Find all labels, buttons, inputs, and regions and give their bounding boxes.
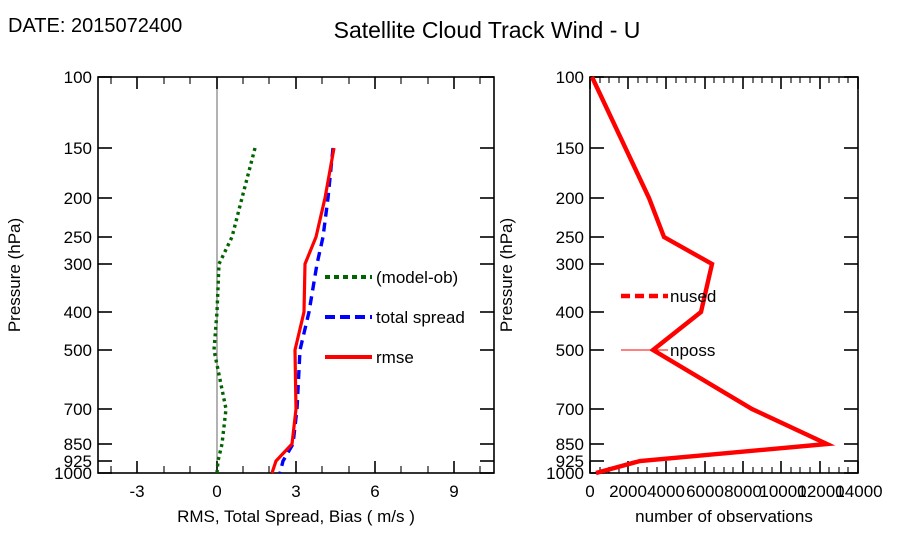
profile-figure: DATE: 2015072400 Satellite Cloud Track W… xyxy=(0,0,900,560)
x-tick-label: -3 xyxy=(129,482,144,501)
y-tick-label: 100 xyxy=(556,68,584,87)
right-legend: nused nposs xyxy=(621,287,716,360)
x-tick-label: 0 xyxy=(585,482,594,501)
series-rmse xyxy=(272,148,334,473)
series-nused xyxy=(592,77,827,473)
right-x-axis-label: number of observations xyxy=(635,507,813,526)
legend-label-nposs: nposs xyxy=(670,341,715,360)
y-tick-label: 700 xyxy=(556,400,584,419)
x-tick-label: 4000 xyxy=(647,482,685,501)
series-model-ob xyxy=(214,148,255,473)
y-tick-label: 200 xyxy=(556,189,584,208)
left-x-tick-labels: -3 0 3 6 9 xyxy=(129,482,458,501)
right-y-axis-label: Pressure (hPa) xyxy=(497,218,516,332)
y-tick-label: 400 xyxy=(64,303,92,322)
legend-label-rmse: rmse xyxy=(376,348,414,367)
x-tick-label: 6000 xyxy=(686,482,724,501)
figure-canvas: DATE: 2015072400 Satellite Cloud Track W… xyxy=(0,0,900,560)
y-tick-label: 150 xyxy=(556,139,584,158)
x-tick-label: 14000 xyxy=(835,482,882,501)
x-tick-label: 8000 xyxy=(724,482,762,501)
right-y-ticks xyxy=(590,77,858,473)
date-label: DATE: 2015072400 xyxy=(8,15,182,37)
y-tick-label: 250 xyxy=(556,228,584,247)
legend-label-model-ob: (model-ob) xyxy=(376,268,458,287)
left-legend: (model-ob) total spread rmse xyxy=(325,268,465,367)
right-x-ticks xyxy=(590,77,858,473)
y-tick-label: 500 xyxy=(64,341,92,360)
right-panel: 100 150 200 250 300 400 500 700 850 925 … xyxy=(497,68,883,526)
left-y-tick-labels: 100 150 200 250 300 400 500 700 850 925 … xyxy=(54,68,92,483)
y-tick-label: 250 xyxy=(64,228,92,247)
y-tick-label: 300 xyxy=(556,255,584,274)
right-plot-frame xyxy=(590,77,858,473)
y-tick-label: 300 xyxy=(64,255,92,274)
x-tick-label: 0 xyxy=(212,482,221,501)
y-tick-label: 400 xyxy=(556,303,584,322)
left-panel: 100 150 200 250 300 400 500 700 850 925 … xyxy=(5,68,494,526)
y-tick-label: 500 xyxy=(556,341,584,360)
x-tick-label: 6 xyxy=(370,482,379,501)
y-tick-label: 100 xyxy=(64,68,92,87)
y-tick-label: 1000 xyxy=(546,464,584,483)
y-tick-label: 1000 xyxy=(54,464,92,483)
page-title: Satellite Cloud Track Wind - U xyxy=(334,17,641,43)
legend-label-nused: nused xyxy=(670,287,716,306)
x-tick-label: 3 xyxy=(291,482,300,501)
left-x-axis-label: RMS, Total Spread, Bias ( m/s ) xyxy=(177,507,415,526)
right-y-tick-labels: 100 150 200 250 300 400 500 700 850 925 … xyxy=(546,68,584,483)
y-tick-label: 150 xyxy=(64,139,92,158)
x-tick-label: 9 xyxy=(449,482,458,501)
left-y-axis-label: Pressure (hPa) xyxy=(5,218,24,332)
x-tick-label: 2000 xyxy=(609,482,647,501)
right-x-tick-labels: 0 2000 4000 6000 8000 10000 12000 14000 xyxy=(585,482,882,501)
y-tick-label: 700 xyxy=(64,400,92,419)
y-tick-label: 200 xyxy=(64,189,92,208)
legend-label-total-spread: total spread xyxy=(376,308,465,327)
